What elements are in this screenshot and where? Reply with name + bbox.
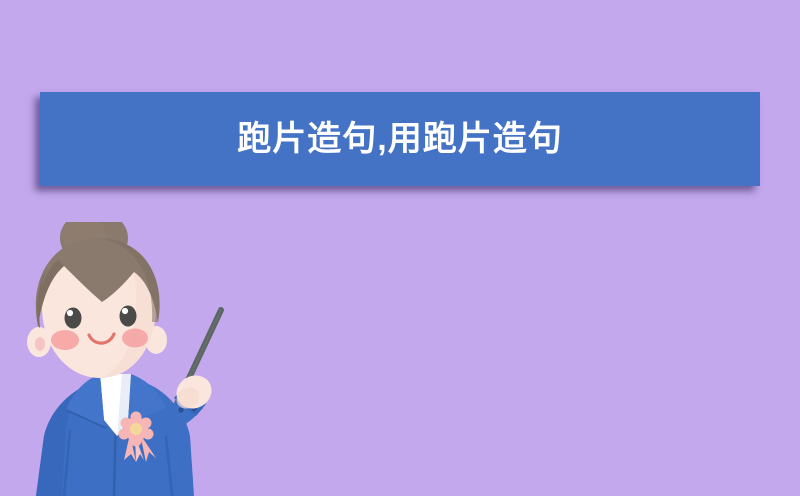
left-blush-icon bbox=[51, 330, 79, 350]
page-title: 跑片造句,用跑片造句 bbox=[237, 122, 562, 156]
right-eye-icon bbox=[120, 306, 137, 327]
teacher-illustration bbox=[18, 222, 248, 496]
title-banner: 跑片造句,用跑片造句 bbox=[40, 92, 760, 186]
page-canvas: 跑片造句,用跑片造句 bbox=[0, 0, 800, 496]
right-blush-icon bbox=[122, 329, 148, 348]
left-eye-icon bbox=[65, 308, 82, 329]
